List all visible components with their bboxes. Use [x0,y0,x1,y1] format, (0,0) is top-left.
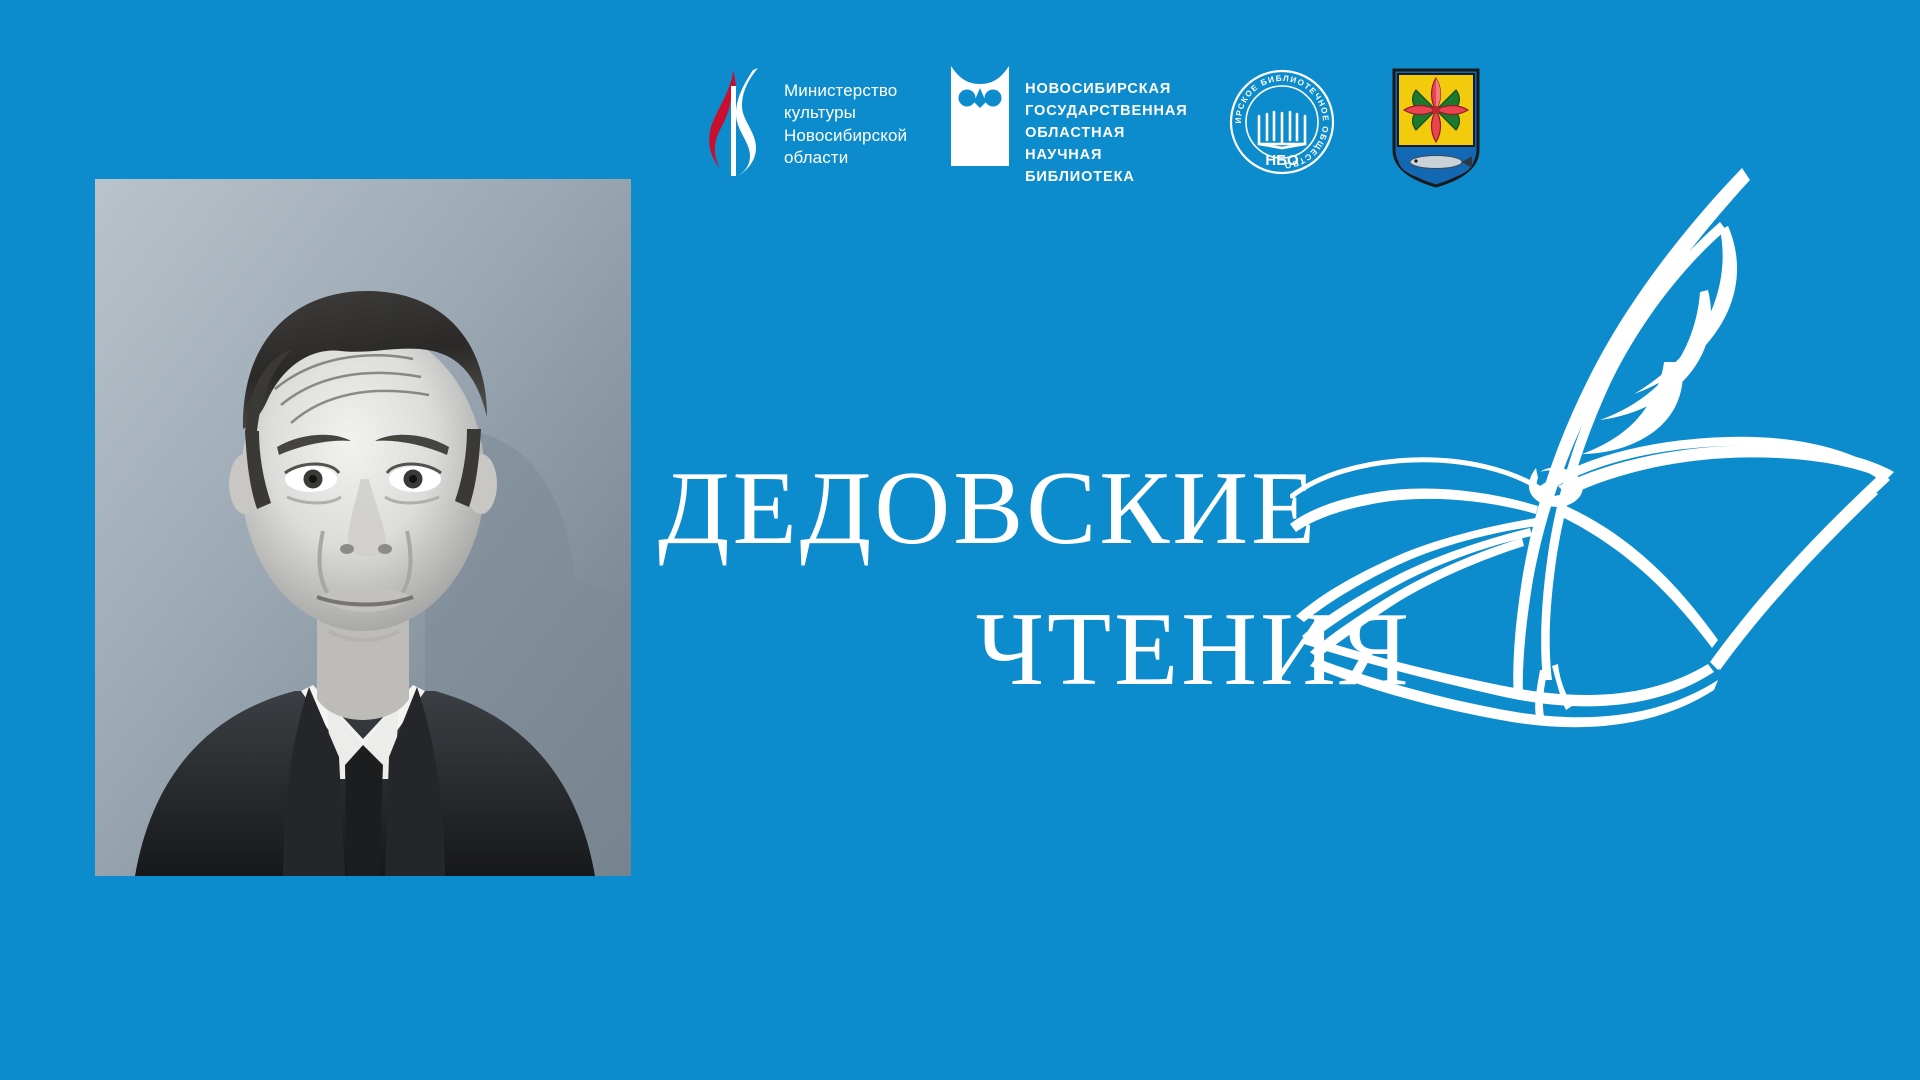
library-logo-block: НОВОСИБИРСКАЯ ГОСУДАРСТВЕННАЯ ОБЛАСТНАЯ … [949,58,1187,188]
ministry-line-3: Новосибирской [784,125,907,147]
quill-and-open-book-emblem [1290,150,1910,810]
ministry-of-culture-logo-block: Министерство культуры Новосибирской обла… [700,58,907,178]
ministry-line-1: Министерство [784,80,907,102]
poster-canvas: Министерство культуры Новосибирской обла… [0,0,1920,1080]
library-label: НОВОСИБИРСКАЯ ГОСУДАРСТВЕННАЯ ОБЛАСТНАЯ … [1025,58,1187,188]
portrait-photograph [95,179,631,876]
owl-icon [949,58,1011,166]
ministry-line-2: культуры [784,102,907,124]
ministry-of-culture-flame-logo [700,58,770,178]
library-line-2: ГОСУДАРСТВЕННАЯ [1025,100,1187,122]
ministry-line-4: области [784,147,907,169]
ministry-of-culture-label: Министерство культуры Новосибирской обла… [784,58,907,170]
library-line-1: НОВОСИБИРСКАЯ [1025,78,1187,100]
library-line-3: ОБЛАСТНАЯ [1025,122,1187,144]
library-line-5: БИБЛИОТЕКА [1025,166,1187,188]
library-line-4: НАУЧНАЯ [1025,144,1187,166]
